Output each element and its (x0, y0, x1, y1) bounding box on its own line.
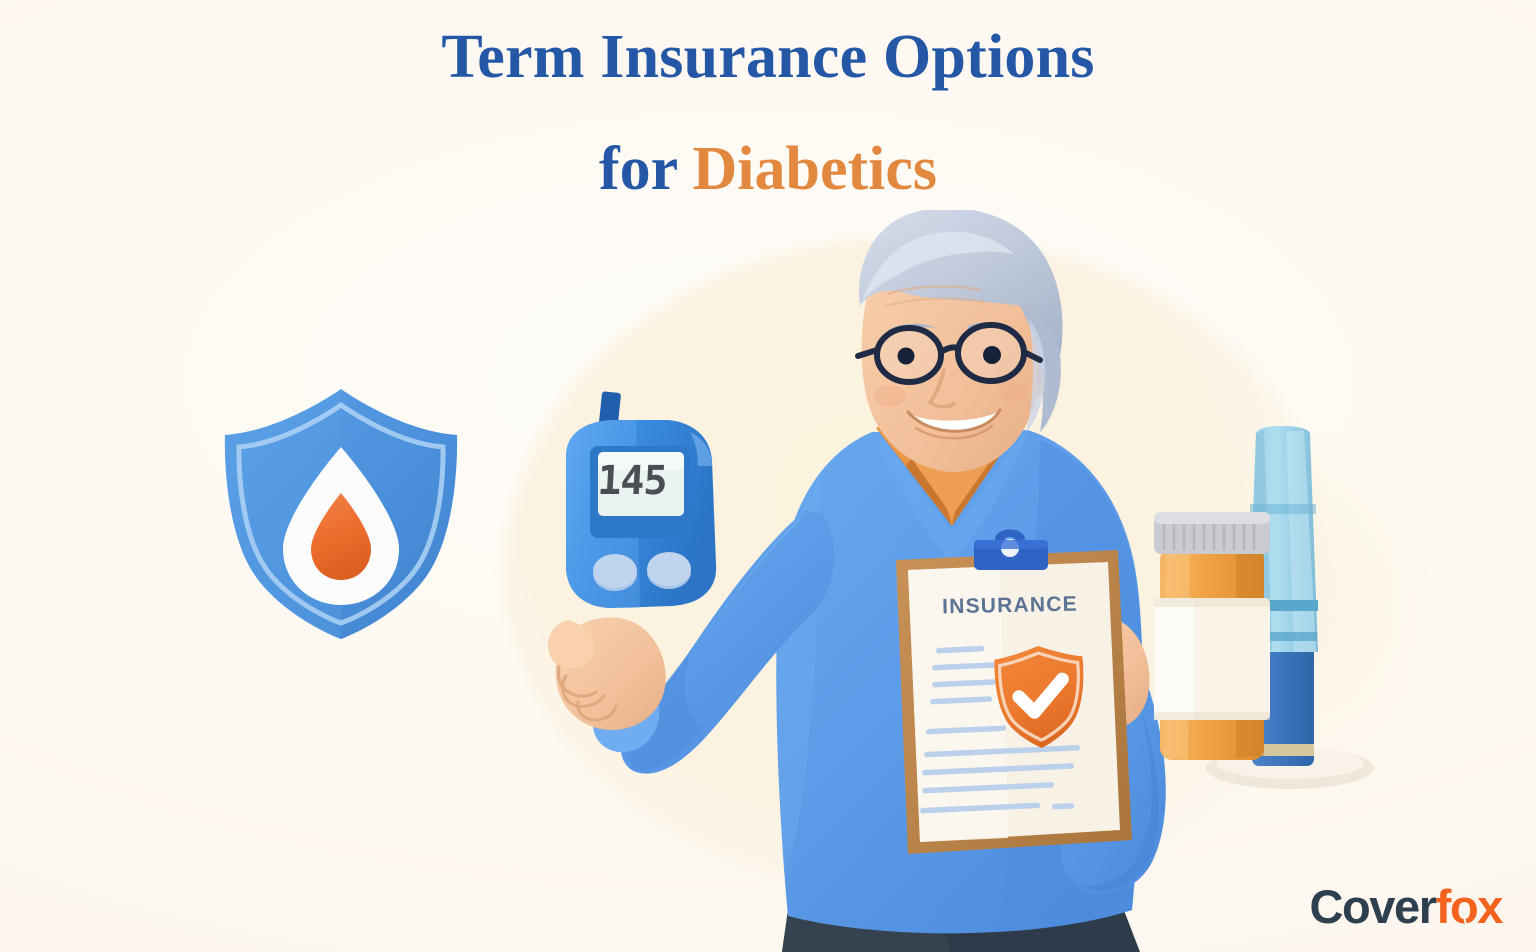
headline-line-2: for Diabetics (0, 88, 1536, 200)
insurance-clipboard (880, 528, 1148, 858)
glucometer-reading: 145 (594, 458, 670, 504)
clipboard-clip-icon (974, 530, 1048, 571)
headline-prefix: for (599, 135, 677, 203)
logo-part-cover: Cover (1309, 880, 1435, 933)
headline-highlight: Diabetics (693, 135, 938, 203)
page-title: Term Insurance Options for Diabetics (0, 12, 1536, 200)
medications-group (1140, 420, 1410, 800)
pill-bottle-icon (1154, 512, 1270, 760)
poster-canvas: Term Insurance Options for Diabetics (0, 0, 1536, 952)
shield-blood-drop-icon (215, 383, 467, 645)
clipboard-title: INSURANCE (920, 592, 1100, 620)
coverfox-logo[interactable]: Coverfox (1309, 883, 1502, 930)
logo-part-fox: fox (1436, 880, 1502, 933)
glucometer-icon (540, 388, 750, 628)
headline-line-1: Term Insurance Options (0, 12, 1536, 88)
